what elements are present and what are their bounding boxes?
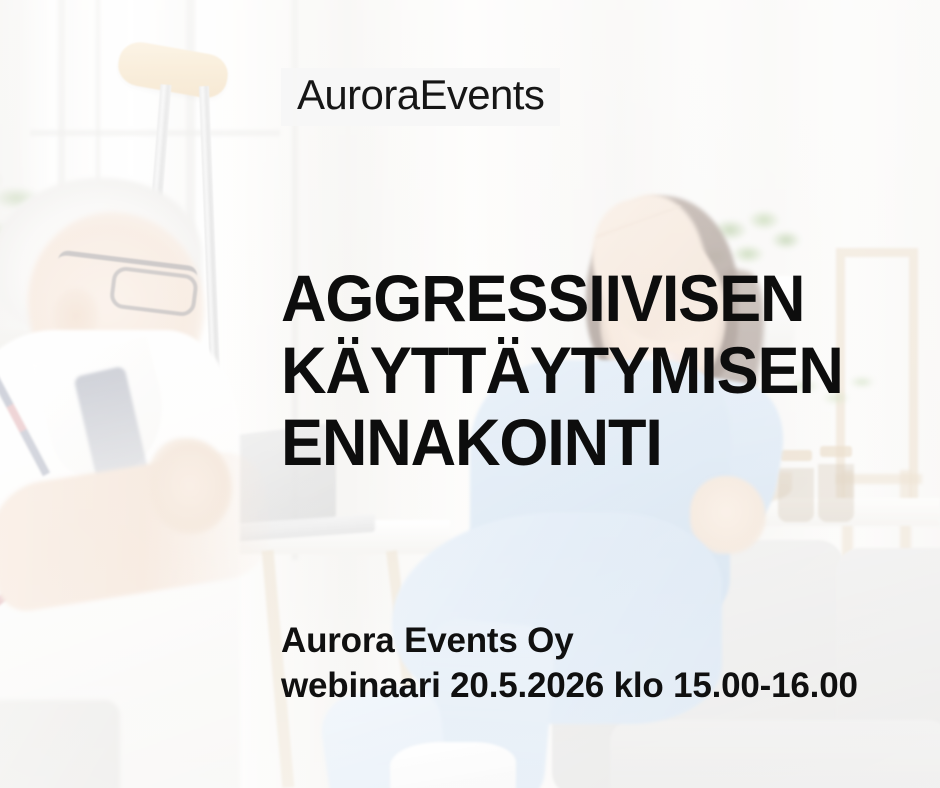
page-title: AGGRESSIIVISEN KÄYTTÄYTYMISEN ENNAKOINTI bbox=[281, 262, 843, 478]
headline-line-3: ENNAKOINTI bbox=[281, 406, 843, 478]
brand-logo-text: AuroraEvents bbox=[297, 74, 544, 116]
event-datetime: webinaari 20.5.2026 klo 15.00-16.00 bbox=[281, 663, 858, 708]
webinar-poster: AuroraEvents AGGRESSIIVISEN KÄYTTÄYTYMIS… bbox=[0, 0, 940, 788]
poster-content: AuroraEvents AGGRESSIIVISEN KÄYTTÄYTYMIS… bbox=[0, 0, 940, 788]
headline-line-2: KÄYTTÄYTYMISEN bbox=[281, 334, 843, 406]
organizer-name: Aurora Events Oy bbox=[281, 618, 858, 663]
event-details: Aurora Events Oy webinaari 20.5.2026 klo… bbox=[281, 618, 858, 708]
brand-logo: AuroraEvents bbox=[281, 68, 560, 126]
headline-line-1: AGGRESSIIVISEN bbox=[281, 262, 843, 334]
